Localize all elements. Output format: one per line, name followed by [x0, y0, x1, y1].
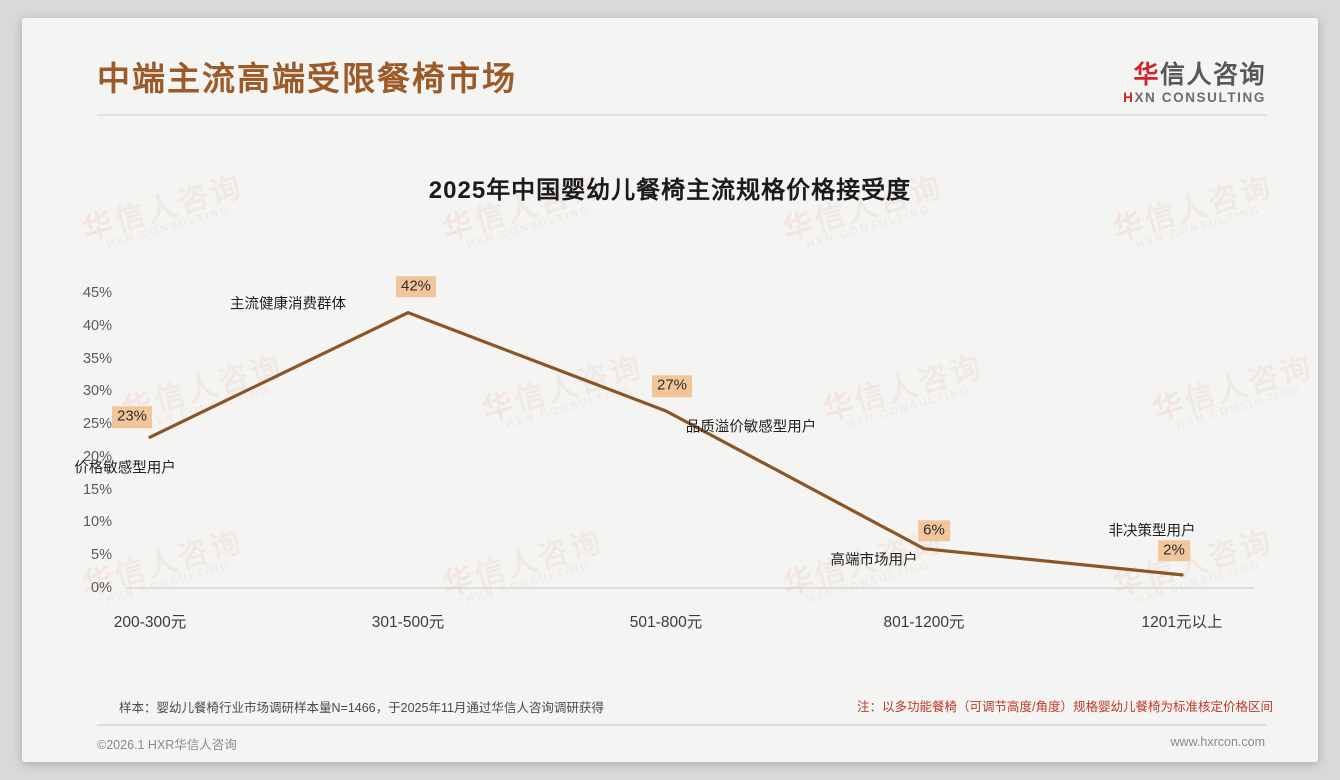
page-title: 中端主流高端受限餐椅市场 [97, 62, 517, 95]
footer-divider [97, 724, 1266, 726]
y-axis-tick-label: 15% [60, 482, 112, 498]
y-axis-tick-label: 5% [60, 547, 112, 563]
series-annotation: 品质溢价敏感型用户 [686, 416, 817, 437]
line-chart: 0%5%10%15%20%25%30%35%40%45%200-300元301-… [82, 243, 1262, 633]
logo-en-rest: XN CONSULTING [1134, 90, 1266, 105]
series-annotation: 主流健康消费群体 [230, 292, 346, 313]
data-point-label: 6% [918, 520, 950, 542]
y-axis-tick-label: 30% [60, 383, 112, 399]
x-axis-tick-label: 801-1200元 [883, 610, 964, 632]
y-axis-tick-label: 35% [60, 351, 112, 367]
remark-note: 注：以多功能餐椅（可调节高度/角度）规格婴幼儿餐椅为标准核定价格区间 [857, 697, 1273, 719]
series-annotation: 非决策型用户 [1109, 519, 1196, 540]
header-divider [97, 114, 1266, 116]
y-axis-tick-label: 10% [60, 514, 112, 530]
logo-chinese-text: 华信人咨询 [1123, 62, 1266, 88]
slide-header: 中端主流高端受限餐椅市场 华信人咨询 HXN CONSULTING [22, 18, 1318, 114]
series-annotation: 高端市场用户 [831, 548, 918, 569]
company-logo: 华信人咨询 HXN CONSULTING [1123, 62, 1266, 105]
data-point-label: 27% [652, 375, 692, 397]
series-annotation: 价格敏感型用户 [74, 457, 176, 478]
sample-note: 样本：婴幼儿餐椅行业市场调研样本量N=1466，于2025年11月通过华信人咨询… [119, 697, 604, 716]
logo-en-accent: H [1123, 90, 1134, 105]
data-point-label: 42% [396, 276, 436, 298]
data-point-label: 2% [1158, 540, 1190, 562]
slide-page: 华信人咨询HXN CONSULTING华信人咨询HXN CONSULTING华信… [22, 18, 1318, 762]
y-axis-tick-label: 0% [60, 580, 112, 596]
y-axis-tick-label: 40% [60, 318, 112, 334]
data-series-line [150, 313, 1182, 575]
x-axis-tick-label: 1201元以上 [1142, 610, 1223, 632]
y-axis-tick-label: 45% [60, 285, 112, 301]
copyright-text: ©2026.1 HXR华信人咨询 [97, 734, 237, 753]
slide-canvas: 华信人咨询HXN CONSULTING华信人咨询HXN CONSULTING华信… [0, 0, 1340, 780]
logo-accent-char: 华 [1133, 61, 1160, 89]
logo-rest-chars: 信人咨询 [1160, 61, 1266, 89]
y-axis-tick-label: 25% [60, 416, 112, 432]
data-point-label: 23% [112, 406, 152, 428]
website-text: www.hxrcon.com [1171, 735, 1265, 749]
logo-english-text: HXN CONSULTING [1123, 90, 1266, 105]
x-axis-tick-label: 301-500元 [372, 610, 444, 632]
x-axis-tick-label: 501-800元 [630, 610, 702, 632]
x-axis-tick-label: 200-300元 [114, 610, 186, 632]
chart-title: 2025年中国婴幼儿餐椅主流规格价格接受度 [22, 170, 1318, 205]
